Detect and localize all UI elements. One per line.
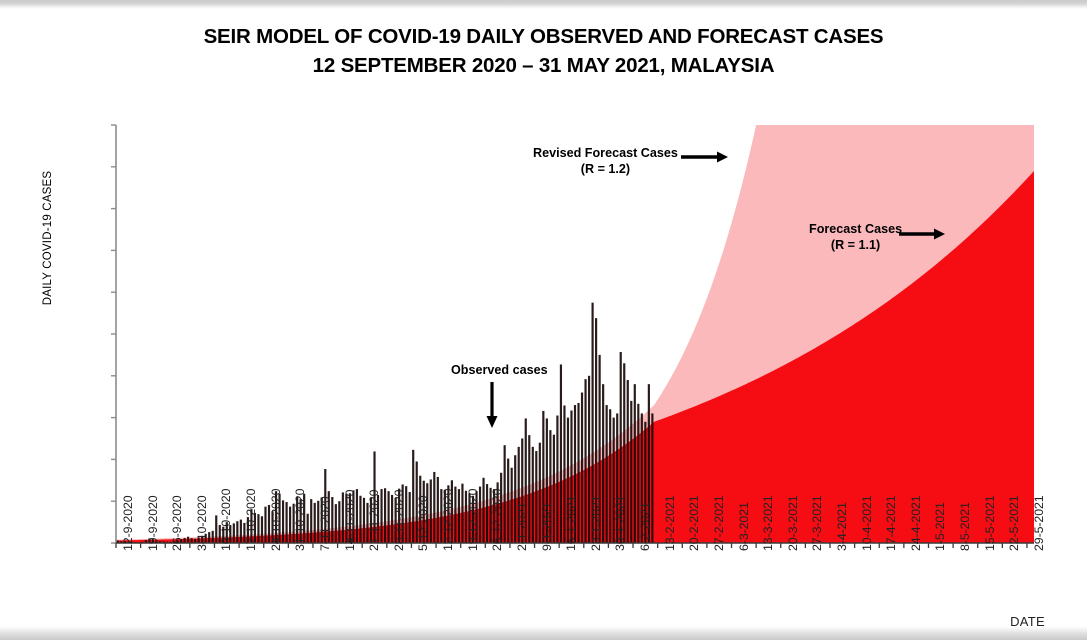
x-axis-tick-label: 20-2-2021 (687, 495, 701, 551)
x-axis-tick-label: 16-1-2021 (564, 495, 578, 551)
x-axis-tick-label: 3-10-2020 (195, 495, 209, 551)
x-axis-tick-label: 3-4-2021 (835, 502, 849, 551)
annotation-forecast-sub: (R = 1.1) (809, 237, 902, 253)
x-axis-tick-label: 21-11-2020 (367, 490, 381, 551)
x-axis-tick-label: 9-1-2021 (540, 502, 554, 551)
annotation-forecast-label: Forecast Cases (809, 221, 902, 237)
x-axis-tick-label: 6-2-2021 (638, 502, 652, 551)
x-axis-title: DATE (1010, 614, 1045, 629)
x-axis-tick-label: 30-1-2021 (613, 495, 627, 551)
annotation-observed-cases: Observed cases (451, 362, 548, 378)
x-axis-tick-label: 27-3-2021 (810, 495, 824, 551)
x-axis-tick-label: 24-10-2020 (269, 489, 283, 551)
chart-page: SEIR MODEL OF COVID-19 DAILY OBSERVED AN… (0, 0, 1087, 640)
annotation-revised-forecast-label: Revised Forecast Cases (533, 145, 678, 161)
x-axis-tick-label: 24-4-2021 (909, 495, 923, 551)
x-axis-tick-label: 5-12-2020 (416, 495, 430, 551)
x-axis-tick-label: 8-5-2021 (958, 502, 972, 551)
x-axis-tick-label: 13-3-2021 (761, 495, 775, 551)
x-axis-tick-label: 15-5-2021 (983, 495, 997, 551)
x-axis-tick-label: 26-12-2020 (490, 489, 504, 551)
x-axis-tick-label: 19-12-2020 (466, 489, 480, 551)
x-axis-tick-label: 12-12-2020 (441, 489, 455, 551)
x-axis-tick-label: 2-1-2021 (515, 502, 529, 551)
x-axis-tick-label: 20-3-2021 (786, 495, 800, 551)
annotation-revised-forecast: Revised Forecast Cases (R = 1.2) (533, 145, 678, 177)
x-axis-tick-label: 17-4-2021 (884, 495, 898, 551)
x-axis-tick-label: 14-11-2020 (343, 490, 357, 551)
annotation-forecast: Forecast Cases (R = 1.1) (809, 221, 902, 253)
annotation-revised-forecast-sub: (R = 1.2) (533, 161, 678, 177)
x-axis-tick-label: 27-2-2021 (712, 495, 726, 551)
annotation-observed-cases-label: Observed cases (451, 362, 548, 378)
x-axis-tick-label: 13-2-2021 (663, 495, 677, 551)
x-axis-tick-label: 22-5-2021 (1007, 495, 1021, 551)
x-axis-tick-label: 28-11-2020 (392, 490, 406, 551)
x-axis-tick-label: 17-10-2020 (244, 489, 258, 551)
x-axis-tick-label: 26-9-2020 (170, 495, 184, 551)
x-axis-tick-label: 19-9-2020 (146, 495, 160, 551)
x-axis-tick-label: 31-10-2020 (293, 489, 307, 551)
x-axis-tick-label: 6-3-2021 (737, 502, 751, 551)
x-axis-tick-label: 10-10-2020 (219, 489, 233, 551)
x-axis-tick-label: 12-9-2020 (121, 495, 135, 551)
x-axis-tick-labels: 12-9-202019-9-202026-9-20203-10-202010-1… (0, 0, 1087, 640)
x-axis-tick-label: 10-4-2021 (860, 495, 874, 551)
x-axis-tick-label: 29-5-2021 (1032, 495, 1046, 551)
x-axis-tick-label: 7-11-2020 (318, 496, 332, 551)
x-axis-tick-label: 23-1-2021 (589, 495, 603, 551)
x-axis-tick-label: 1-5-2021 (933, 502, 947, 551)
